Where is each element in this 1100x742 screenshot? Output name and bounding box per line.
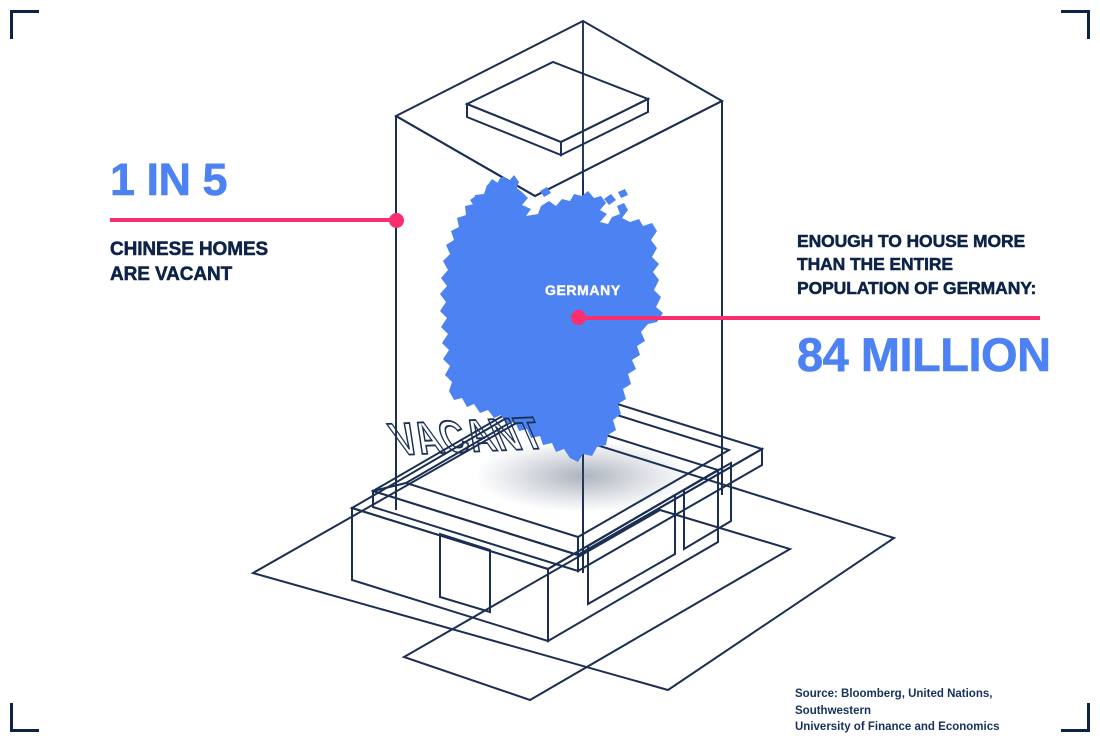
right-stat-caption-line1: ENOUGH TO HOUSE MORE: [797, 230, 1057, 253]
right-stat-value: 84 MILLION: [797, 331, 1077, 378]
source-line1: Source: Bloomberg, United Nations, South…: [795, 686, 1055, 719]
right-stat-caption: ENOUGH TO HOUSE MORE THAN THE ENTIRE POP…: [797, 230, 1057, 300]
tower-roof: [396, 21, 722, 196]
right-connector-rule: [585, 316, 1040, 320]
left-stat-caption: CHINESE HOMES ARE VACANT: [110, 237, 410, 288]
left-stat-block: 1 IN 5: [110, 157, 400, 202]
vacant-sign: VACANT: [382, 408, 552, 466]
right-stat-caption-line3: POPULATION OF GERMANY:: [797, 277, 1057, 300]
right-connector-dot: [571, 310, 586, 325]
left-connector-rule: [110, 218, 397, 222]
vacant-sign-text: VACANT: [382, 408, 552, 466]
source-attribution: Source: Bloomberg, United Nations, South…: [795, 686, 1055, 736]
germany-map-label: GERMANY: [545, 282, 621, 298]
left-connector-dot: [389, 213, 404, 228]
right-stat-block: 84 MILLION: [797, 331, 1077, 378]
source-line2: University of Finance and Economics: [795, 719, 1055, 736]
left-stat-value: 1 IN 5: [110, 157, 400, 202]
roof-slab: [467, 62, 648, 155]
left-stat-caption-line1: CHINESE HOMES: [110, 237, 410, 262]
right-stat-caption-line2: THAN THE ENTIRE: [797, 253, 1057, 276]
left-stat-caption-line2: ARE VACANT: [110, 262, 410, 287]
infographic-canvas: VACANT 1 IN 5 CHINESE HOMES ARE VACANT E…: [0, 0, 1100, 742]
